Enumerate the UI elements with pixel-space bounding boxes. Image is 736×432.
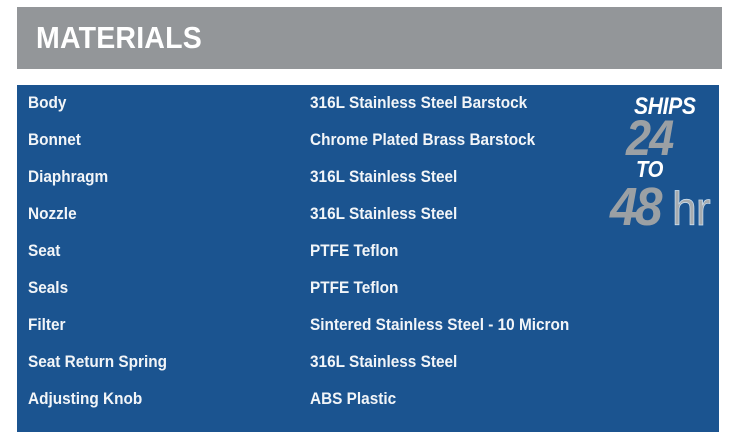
component-label: Diaphragm <box>28 168 108 187</box>
component-label: Nozzle <box>28 205 77 224</box>
table-row: Body 316L Stainless Steel Barstock <box>17 85 719 122</box>
material-value: PTFE Teflon <box>310 279 398 298</box>
materials-panel: Body 316L Stainless Steel Barstock Bonne… <box>17 85 719 432</box>
section-header-bar: MATERIALS <box>17 7 722 69</box>
component-label: Filter <box>28 316 66 335</box>
component-label: Seals <box>28 279 68 298</box>
material-value: 316L Stainless Steel <box>310 168 457 187</box>
component-label: Bonnet <box>28 131 81 150</box>
material-value: Sintered Stainless Steel - 10 Micron <box>310 316 569 335</box>
table-row: Seals PTFE Teflon <box>17 270 719 307</box>
table-row: Seat PTFE Teflon <box>17 233 719 270</box>
component-label: Body <box>28 94 66 113</box>
table-row: Bonnet Chrome Plated Brass Barstock <box>17 122 719 159</box>
table-row: Filter Sintered Stainless Steel - 10 Mic… <box>17 307 719 344</box>
material-value: PTFE Teflon <box>310 242 398 261</box>
component-label: Seat <box>28 242 60 261</box>
component-label: Adjusting Knob <box>28 390 142 409</box>
table-row: Adjusting Knob ABS Plastic <box>17 381 719 418</box>
page-title: MATERIALS <box>36 20 202 56</box>
table-row: Seat Return Spring 316L Stainless Steel <box>17 344 719 381</box>
materials-table: Body 316L Stainless Steel Barstock Bonne… <box>17 85 719 418</box>
materials-specification-page: MATERIALS Body 316L Stainless Steel Bars… <box>0 0 736 432</box>
material-value: ABS Plastic <box>310 390 396 409</box>
table-row: Nozzle 316L Stainless Steel <box>17 196 719 233</box>
material-value: Chrome Plated Brass Barstock <box>310 131 535 150</box>
material-value: 316L Stainless Steel <box>310 353 457 372</box>
table-row: Diaphragm 316L Stainless Steel <box>17 159 719 196</box>
component-label: Seat Return Spring <box>28 353 167 372</box>
material-value: 316L Stainless Steel <box>310 205 457 224</box>
material-value: 316L Stainless Steel Barstock <box>310 94 527 113</box>
